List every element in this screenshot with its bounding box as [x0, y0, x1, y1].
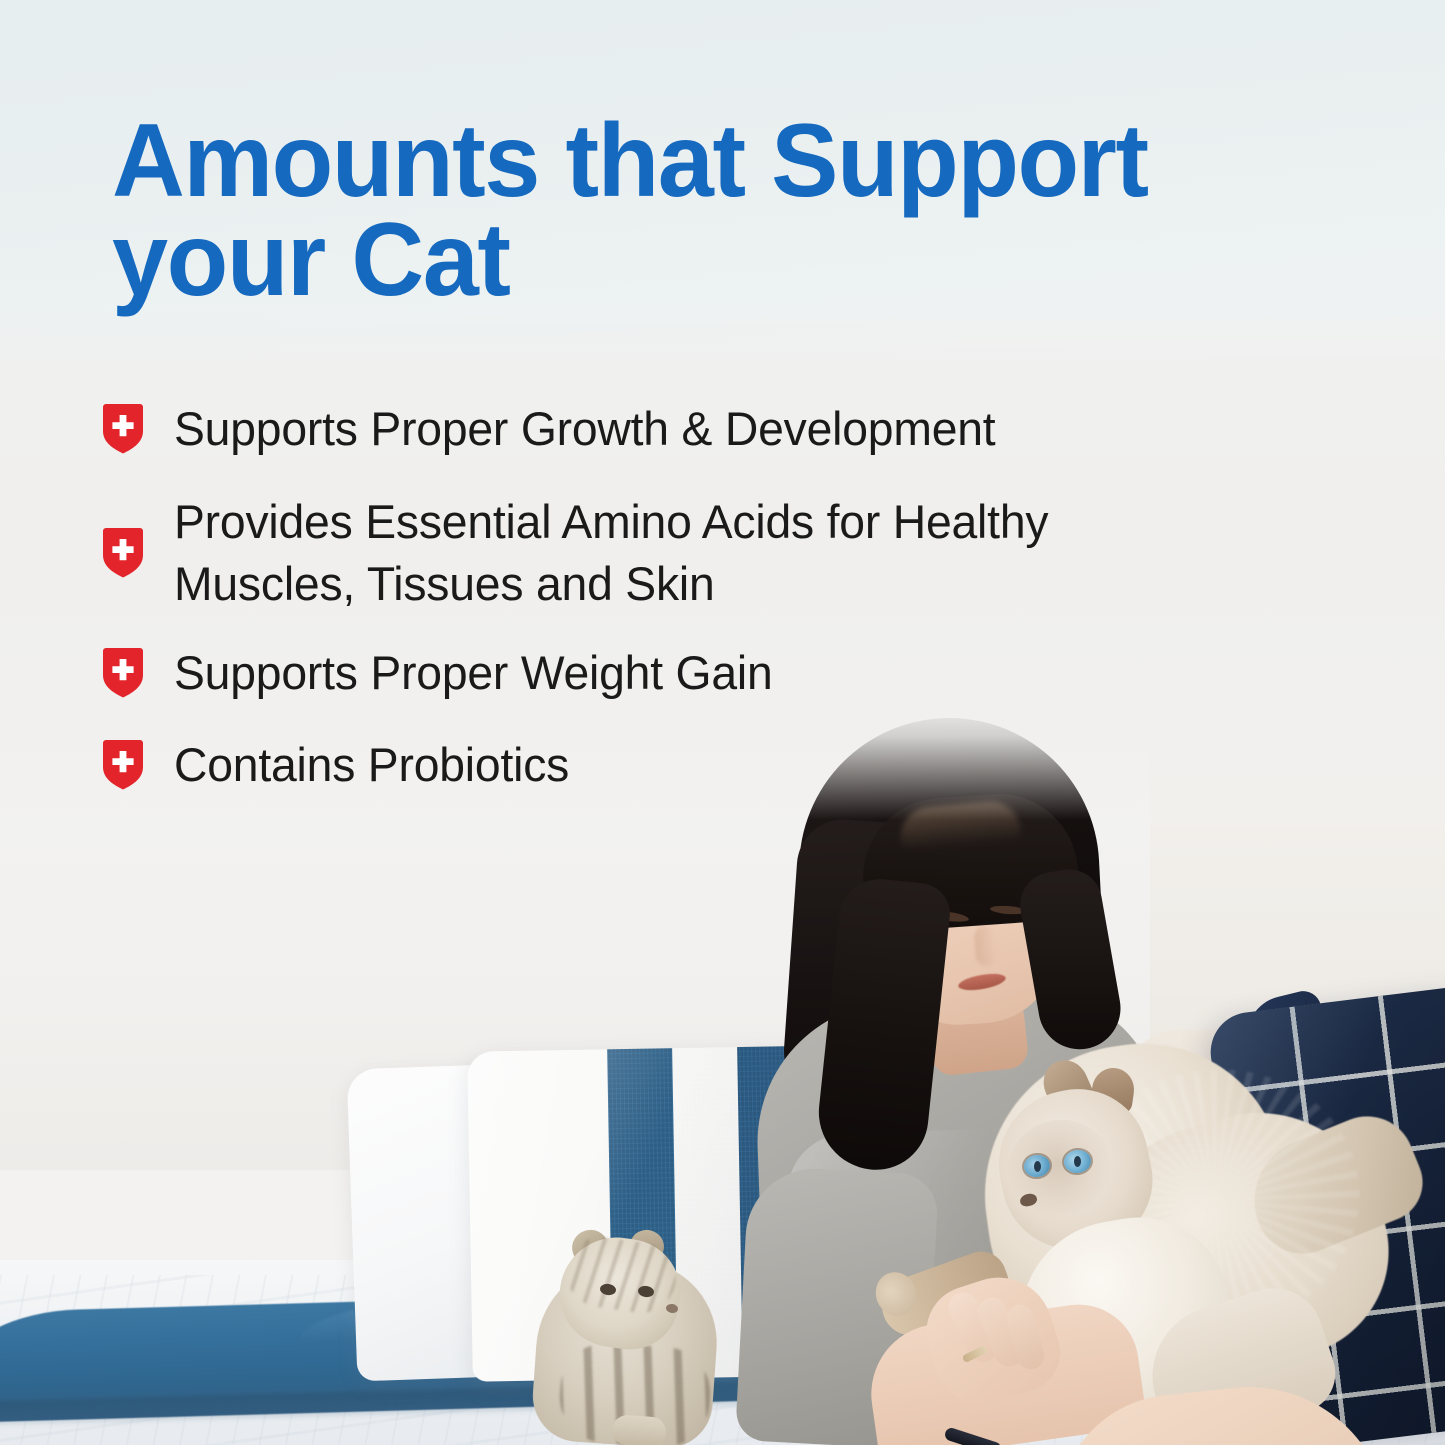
- benefit-item-3: Supports Proper Weight Gain: [100, 642, 1330, 705]
- benefits-list: Supports Proper Growth & Development Pro…: [100, 398, 1330, 827]
- photo-kitten-paw: [611, 1414, 667, 1445]
- benefit-text-2-line-1: Provides Essential Amino Acids for Healt…: [174, 491, 1048, 554]
- product-feature-image: Amounts that Support your Cat Supports P…: [0, 0, 1445, 1445]
- benefit-text-1: Supports Proper Growth & Development: [174, 398, 995, 461]
- shield-plus-icon: [100, 739, 146, 791]
- benefit-text-3: Supports Proper Weight Gain: [174, 642, 773, 705]
- benefit-text-2-line-2: Muscles, Tissues and Skin: [174, 553, 1048, 616]
- shield-plus-icon: [100, 647, 146, 699]
- benefit-text-3-line-1: Supports Proper Weight Gain: [174, 642, 773, 705]
- photo-woman-nose: [974, 925, 999, 966]
- photo-cat-pupil-left: [1034, 1161, 1041, 1172]
- shield-plus-icon: [100, 403, 146, 455]
- benefit-text-1-line-1: Supports Proper Growth & Development: [174, 398, 995, 461]
- shield-plus-icon: [100, 527, 146, 579]
- photo-cat-pupil-right: [1074, 1156, 1081, 1167]
- benefit-text-4-line-1: Contains Probiotics: [174, 734, 569, 797]
- benefit-text-4: Contains Probiotics: [174, 734, 569, 797]
- benefit-item-2: Provides Essential Amino Acids for Healt…: [100, 491, 1330, 616]
- benefit-item-4: Contains Probiotics: [100, 734, 1330, 797]
- benefit-item-1: Supports Proper Growth & Development: [100, 398, 1330, 461]
- page-title: Amounts that Support your Cat: [112, 112, 1276, 310]
- page-title-line-2: your Cat: [112, 211, 1276, 310]
- benefit-text-2: Provides Essential Amino Acids for Healt…: [174, 491, 1048, 616]
- page-title-line-1: Amounts that Support: [112, 112, 1276, 211]
